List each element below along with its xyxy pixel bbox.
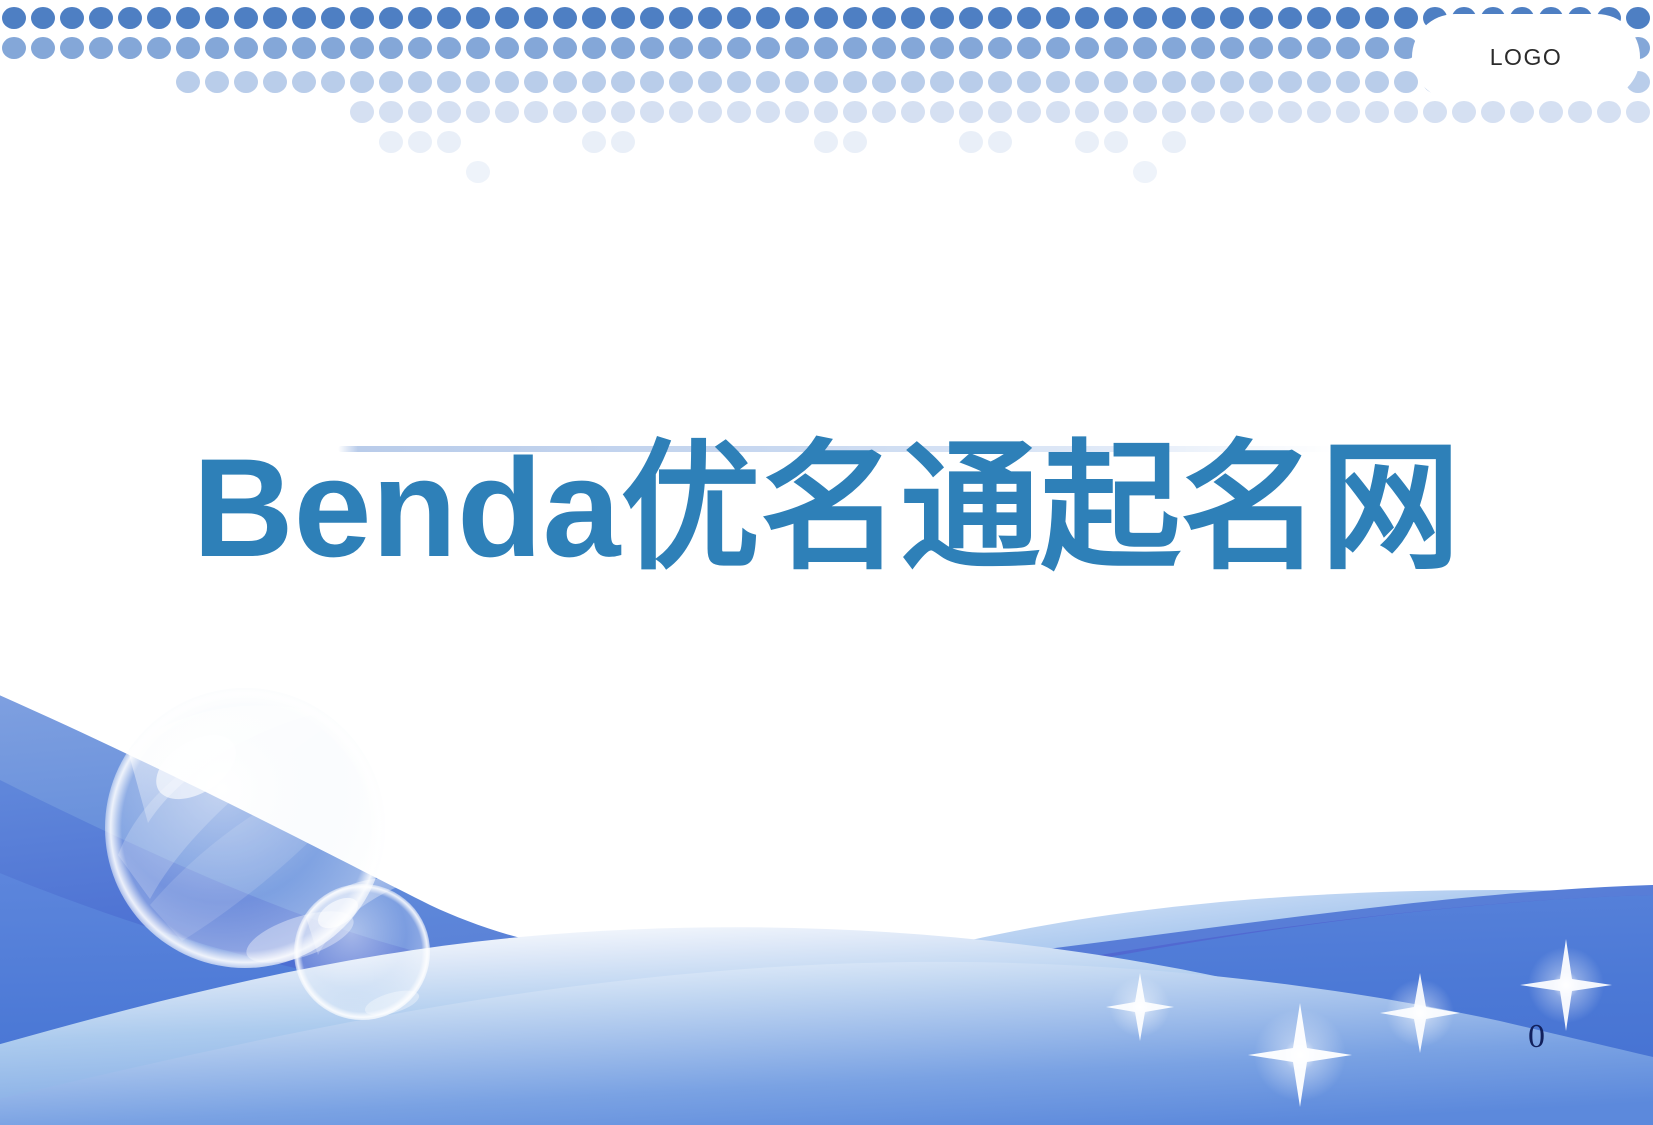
halftone-dot [553,37,577,59]
halftone-dot [1162,131,1186,153]
halftone-dot [408,37,432,59]
halftone-dot [466,71,490,93]
halftone-dot [1133,71,1157,93]
halftone-dot [379,101,403,123]
halftone-dot [1220,71,1244,93]
halftone-dot [901,101,925,123]
halftone-dot [669,7,693,29]
halftone-dot [1046,37,1070,59]
halftone-dot [1133,161,1157,183]
halftone-dot [727,37,751,59]
slide-canvas: LOGO Benda优名通起名网 [0,0,1653,1125]
halftone-dot [901,7,925,29]
halftone-dot [1017,37,1041,59]
halftone-dot [872,101,896,123]
halftone-dot [1336,7,1360,29]
halftone-dot [1394,101,1418,123]
halftone-dot [1220,7,1244,29]
halftone-dot [1539,101,1563,123]
halftone-dot [524,37,548,59]
halftone-dot [495,71,519,93]
halftone-dot [321,71,345,93]
logo-label: LOGO [1490,44,1562,71]
halftone-dot [408,101,432,123]
halftone-dot [582,7,606,29]
halftone-dot [1307,71,1331,93]
halftone-dot [1162,101,1186,123]
halftone-dot [350,101,374,123]
halftone-dot [205,7,229,29]
halftone-dot [1365,71,1389,93]
halftone-dot [843,131,867,153]
halftone-dot [756,71,780,93]
halftone-dot [1394,71,1418,93]
halftone-dot [466,101,490,123]
halftone-dot [466,7,490,29]
halftone-dot [466,161,490,183]
halftone-dot [350,37,374,59]
halftone-dot [843,7,867,29]
halftone-dot [553,71,577,93]
halftone-dot [582,37,606,59]
halftone-dot [1278,71,1302,93]
halftone-dot [379,71,403,93]
halftone-dot [437,37,461,59]
halftone-dot [988,7,1012,29]
halftone-dot [437,71,461,93]
halftone-dot [698,71,722,93]
halftone-dot [176,71,200,93]
halftone-dot [1481,101,1505,123]
halftone-dot [1075,131,1099,153]
halftone-dot [321,37,345,59]
halftone-dot [727,101,751,123]
halftone-dot [466,37,490,59]
halftone-dot [930,7,954,29]
halftone-dot [1133,37,1157,59]
halftone-dot [60,7,84,29]
halftone-dot [1249,71,1273,93]
halftone-dot [582,101,606,123]
halftone-dot [872,37,896,59]
halftone-dot [959,37,983,59]
halftone-dot [89,7,113,29]
halftone-dot [988,71,1012,93]
halftone-dot [640,7,664,29]
halftone-dot [930,71,954,93]
halftone-dot [1162,71,1186,93]
halftone-dot [872,7,896,29]
halftone-dot [176,7,200,29]
halftone-dot [1017,101,1041,123]
halftone-dot [1104,7,1128,29]
halftone-dot [321,7,345,29]
halftone-dot [553,7,577,29]
halftone-dot [408,7,432,29]
halftone-dot [1626,101,1650,123]
halftone-dot [988,131,1012,153]
halftone-dot [785,7,809,29]
halftone-dot [1104,37,1128,59]
halftone-dot [263,37,287,59]
halftone-dot [1249,37,1273,59]
halftone-dot [234,71,258,93]
halftone-dot [437,131,461,153]
halftone-dot [611,131,635,153]
halftone-dot [814,7,838,29]
halftone-dot [1104,71,1128,93]
halftone-dot [1191,101,1215,123]
halftone-dot [408,131,432,153]
halftone-dot [669,37,693,59]
halftone-dot [930,37,954,59]
halftone-dot [495,37,519,59]
halftone-dot [1075,71,1099,93]
halftone-dot [959,71,983,93]
halftone-dot [1191,71,1215,93]
halftone-dot [234,7,258,29]
halftone-dot [1220,37,1244,59]
halftone-dot [292,37,316,59]
halftone-dot [1133,7,1157,29]
halftone-dot [1075,7,1099,29]
halftone-dot [1365,37,1389,59]
halftone-dot [437,101,461,123]
halftone-dot [1597,101,1621,123]
halftone-dot [1075,101,1099,123]
halftone-dot [1423,101,1447,123]
halftone-dot [263,7,287,29]
halftone-dot [118,7,142,29]
halftone-dot [205,71,229,93]
halftone-dot [1336,101,1360,123]
halftone-dot [814,131,838,153]
halftone-dot [843,101,867,123]
halftone-dot [31,7,55,29]
halftone-dot [698,7,722,29]
halftone-dot [640,37,664,59]
halftone-dot [553,101,577,123]
halftone-dot [582,131,606,153]
halftone-dot [1017,71,1041,93]
halftone-dot [988,101,1012,123]
halftone-dot [379,37,403,59]
halftone-dot [727,71,751,93]
halftone-dot-band [0,0,1653,200]
halftone-dot [147,7,171,29]
halftone-dot [640,71,664,93]
halftone-dot [1162,37,1186,59]
halftone-dot [901,37,925,59]
halftone-dot [785,71,809,93]
halftone-dot [1191,37,1215,59]
halftone-dot [495,7,519,29]
halftone-dot [611,7,635,29]
halftone-dot [785,37,809,59]
halftone-dot [1046,71,1070,93]
halftone-dot [408,71,432,93]
halftone-dot [31,37,55,59]
halftone-dot [263,71,287,93]
halftone-dot [1568,101,1592,123]
halftone-dot [1278,7,1302,29]
halftone-dot [814,37,838,59]
halftone-dot [205,37,229,59]
halftone-dot [147,37,171,59]
page-title: Benda优名通起名网 [0,438,1653,578]
halftone-dot [930,101,954,123]
halftone-dot [1075,37,1099,59]
halftone-dot [1307,7,1331,29]
halftone-dot [1365,101,1389,123]
halftone-dot [437,7,461,29]
halftone-dot [1104,131,1128,153]
halftone-dot [669,101,693,123]
halftone-dot [1191,7,1215,29]
halftone-dot [89,37,113,59]
halftone-dot [495,101,519,123]
halftone-dot [1394,7,1418,29]
halftone-dot [1046,101,1070,123]
halftone-dot [1336,71,1360,93]
halftone-dot [1626,7,1650,29]
halftone-dot [234,37,258,59]
halftone-dot [60,37,84,59]
halftone-dot [1510,101,1534,123]
halftone-dot [901,71,925,93]
halftone-dot [727,7,751,29]
halftone-dot [959,131,983,153]
halftone-dot [843,37,867,59]
halftone-dot [1249,101,1273,123]
halftone-dot [379,7,403,29]
halftone-dot [872,71,896,93]
halftone-dot [2,7,26,29]
halftone-dot [1133,101,1157,123]
halftone-dot [756,101,780,123]
halftone-dot [959,101,983,123]
halftone-dot [524,7,548,29]
halftone-dot [2,37,26,59]
halftone-dot [176,37,200,59]
page-number: 0 [1528,1018,1545,1056]
halftone-dot [1104,101,1128,123]
halftone-dot [1278,101,1302,123]
halftone-dot [611,71,635,93]
halftone-dot [1336,37,1360,59]
halftone-dot [611,101,635,123]
halftone-dot [1307,37,1331,59]
halftone-dot [582,71,606,93]
halftone-dot [292,71,316,93]
halftone-dot [379,131,403,153]
halftone-dot [350,7,374,29]
halftone-dot [1017,7,1041,29]
halftone-dot [756,37,780,59]
halftone-dot [524,71,548,93]
halftone-dot [698,37,722,59]
halftone-dot [843,71,867,93]
halftone-dot [1307,101,1331,123]
halftone-dot [350,71,374,93]
halftone-dot [669,71,693,93]
halftone-dot [814,101,838,123]
halftone-dot [1452,101,1476,123]
halftone-dot [1365,7,1389,29]
halftone-dot [1046,7,1070,29]
halftone-dot [640,101,664,123]
halftone-dot [1249,7,1273,29]
halftone-dot [118,37,142,59]
halftone-dot [524,101,548,123]
halftone-dot [959,7,983,29]
halftone-dot [814,71,838,93]
halftone-dot [785,101,809,123]
halftone-dot [292,7,316,29]
halftone-dot [1220,101,1244,123]
logo-placeholder[interactable]: LOGO [1412,14,1640,100]
halftone-dot [611,37,635,59]
halftone-dot [1162,7,1186,29]
halftone-dot [756,7,780,29]
halftone-dot [1278,37,1302,59]
halftone-dot [698,101,722,123]
halftone-dot [988,37,1012,59]
bottom-decorative-artwork [0,655,1653,1125]
